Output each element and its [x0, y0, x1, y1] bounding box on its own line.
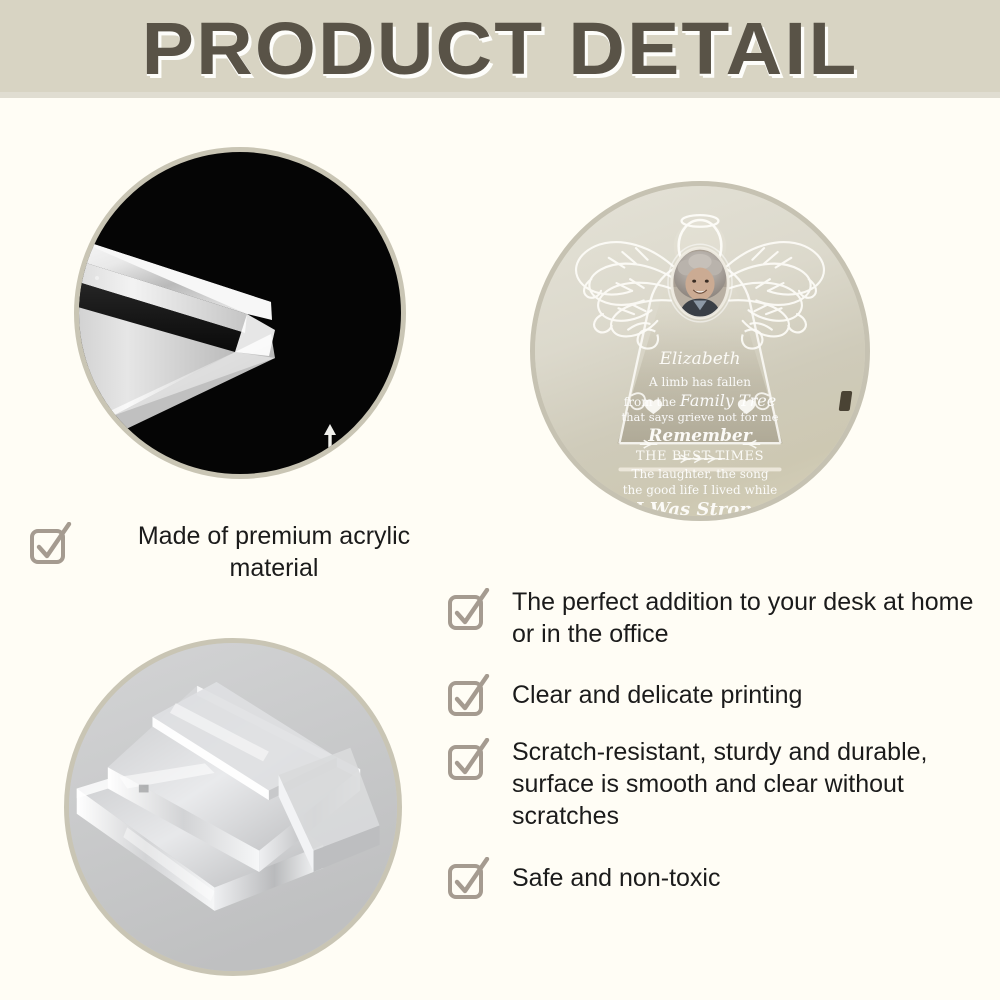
angel-plaque-photo: Elizabeth A limb has fallen from the Fam… [530, 181, 870, 521]
thickness-photo: Thickness 0.55 in [74, 147, 406, 479]
acrylic-sheets-illustration [69, 643, 397, 971]
feature-item-perfect-addition: The perfect addition to your desk at hom… [446, 586, 994, 650]
feature-item-premium-acrylic: Made of premium acrylic material [28, 520, 458, 584]
checkbox-checked-icon [28, 522, 72, 566]
product-detail-infographic: PRODUCT DETAIL [0, 0, 1000, 1000]
checkbox-checked-icon [446, 674, 490, 718]
header-band-underline [0, 92, 1000, 98]
feature-item-clear-printing: Clear and delicate printing [446, 672, 994, 718]
feature-label: Clear and delicate printing [512, 672, 802, 711]
thickness-label: Thickness 0.55 in [344, 433, 406, 479]
feature-label: The perfect addition to your desk at hom… [512, 586, 994, 650]
feature-label: Safe and non-toxic [512, 855, 720, 894]
checkbox-checked-icon [446, 738, 490, 782]
acrylic-sheets-photo [64, 638, 402, 976]
checkbox-checked-icon [446, 857, 490, 901]
feature-label: Scratch-resistant, sturdy and durable, s… [512, 736, 994, 832]
feature-item-scratch-resistant: Scratch-resistant, sturdy and durable, s… [446, 736, 994, 832]
thickness-label-line2: 0.55 in [344, 463, 406, 479]
checkbox-checked-icon [446, 588, 490, 632]
acrylic-edge-illustration [74, 192, 369, 442]
page-title: PRODUCT DETAIL [0, 4, 1000, 92]
feature-item-safe-non-toxic: Safe and non-toxic [446, 855, 994, 901]
feature-label: Made of premium acrylic material [94, 520, 454, 584]
thickness-label-line1: Thickness [344, 433, 406, 463]
angel-plaque-illustration [535, 186, 865, 516]
double-arrow-vertical-icon [322, 424, 338, 479]
